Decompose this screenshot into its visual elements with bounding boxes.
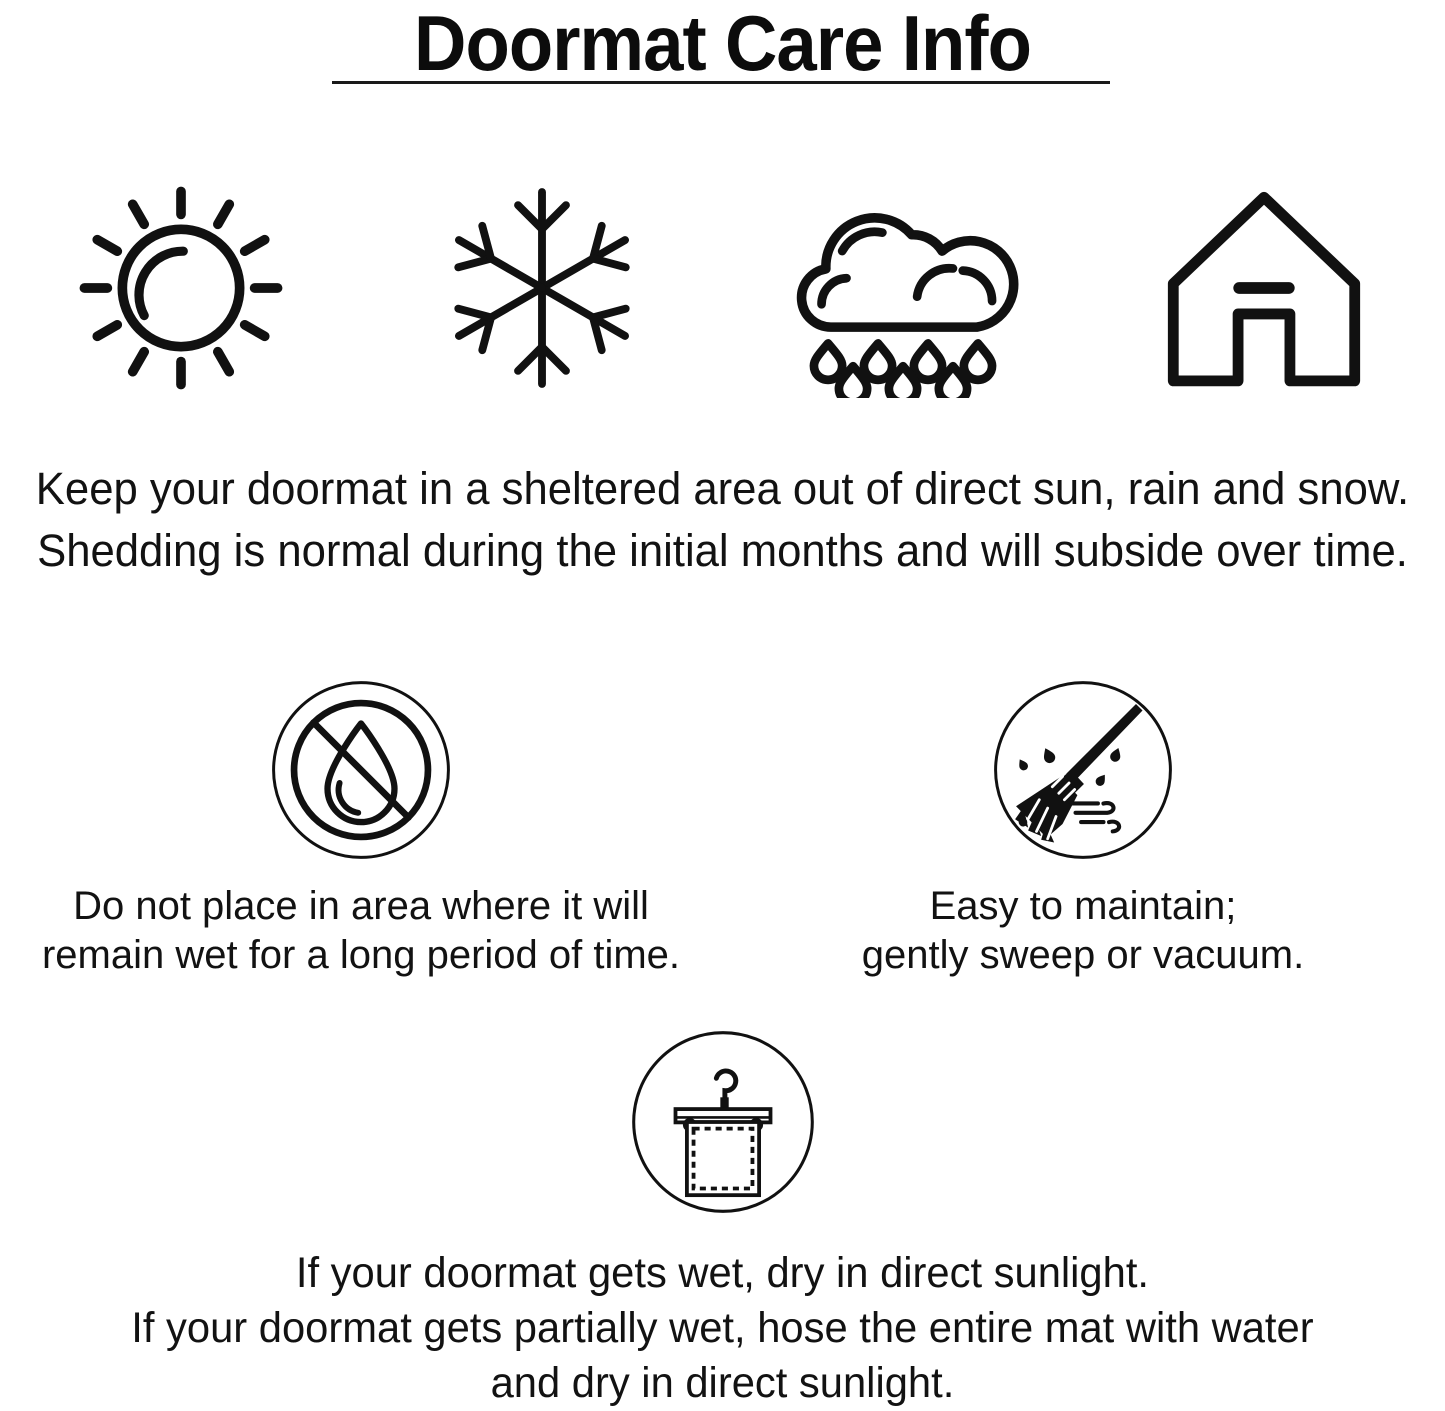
weather-icon-row [0,168,1445,408]
weather-cell-house [1084,168,1445,408]
no-water-line-1: Do not place in area where it will [42,882,680,931]
dry-caption: If your doormat gets wet, dry in direct … [113,1246,1332,1411]
page-title: Doormat Care Info [51,0,1395,84]
care-icon-wrap-no-water [268,672,454,868]
intro-line-2: Shedding is normal during the initial mo… [22,520,1424,582]
care-panel-no-water: Do not place in area where it will remai… [0,672,722,982]
sweep-line-1: Easy to maintain; [862,882,1304,931]
sun-icon [66,173,296,403]
dry-icon-wrap [628,1022,818,1222]
dry-line-2: If your doormat gets partially wet, hose… [131,1301,1313,1356]
title-block: Doormat Care Info [0,0,1445,84]
dry-instructions-panel: If your doormat gets wet, dry in direct … [0,1022,1445,1411]
care-icon-wrap-sweep [990,672,1176,868]
intro-paragraph: Keep your doormat in a sheltered area ou… [0,458,1445,582]
broom-sweep-icon [990,677,1176,863]
care-panel-sweep: Easy to maintain; gently sweep or vacuum… [722,672,1444,982]
hanging-mat-dry-icon [628,1027,818,1217]
weather-cell-rain [723,168,1084,408]
intro-line-1: Keep your doormat in a sheltered area ou… [22,458,1424,520]
care-caption-no-water: Do not place in area where it will remai… [42,882,680,980]
care-panel-row: Do not place in area where it will remai… [0,672,1445,982]
title-underline-rule [332,81,1110,84]
house-icon [1156,180,1372,396]
dry-line-1: If your doormat gets wet, dry in direct … [131,1246,1313,1301]
weather-cell-sun [1,168,362,408]
care-caption-sweep: Easy to maintain; gently sweep or vacuum… [862,882,1304,980]
sweep-line-2: gently sweep or vacuum. [862,931,1304,980]
no-water-line-2: remain wet for a long period of time. [42,931,680,980]
rain-cloud-icon [777,178,1029,398]
snowflake-icon [433,179,651,397]
dry-line-3: and dry in direct sunlight. [131,1356,1313,1411]
no-water-icon [268,677,454,863]
weather-cell-snowflake [362,168,723,408]
